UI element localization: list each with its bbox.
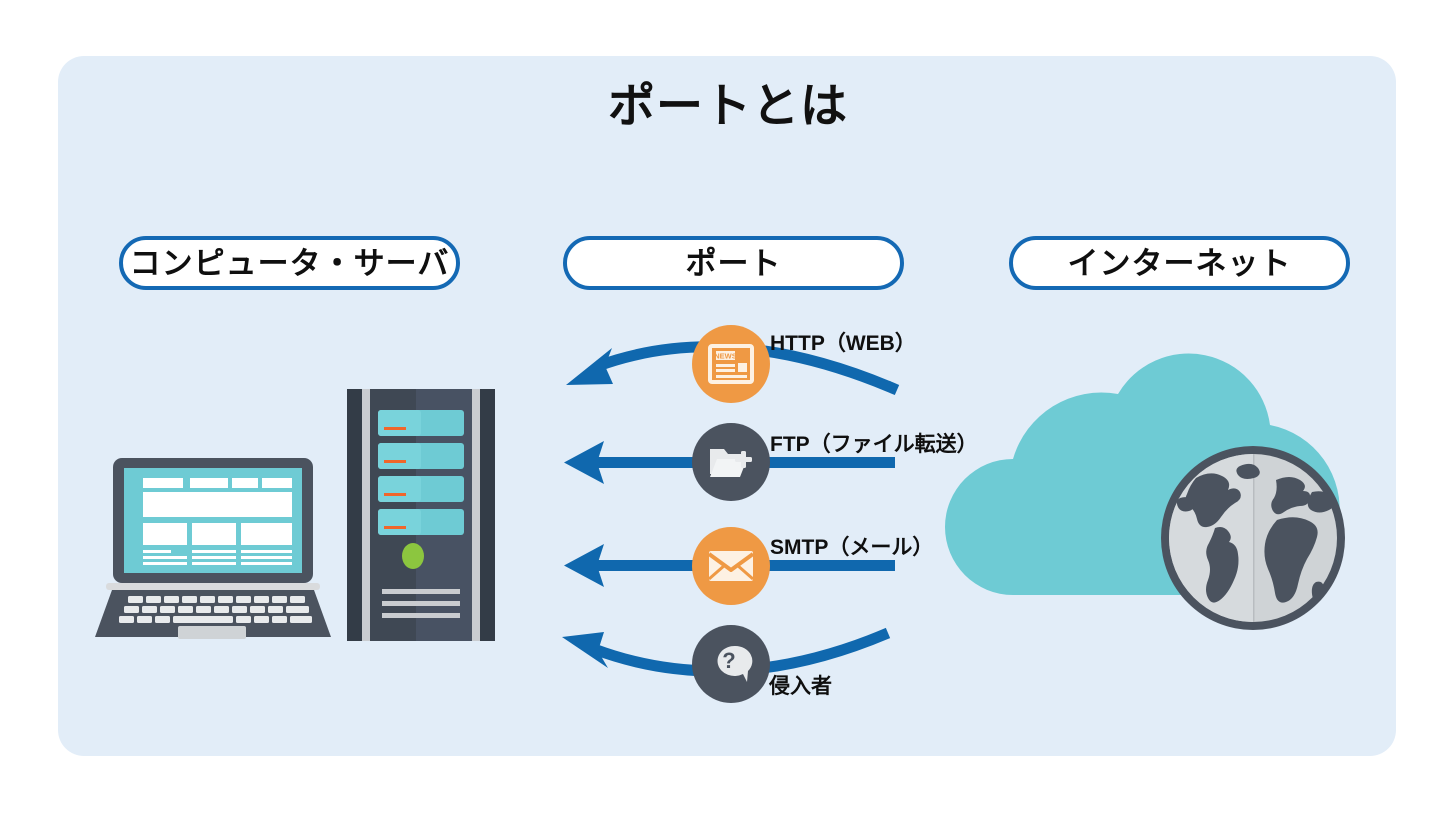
diagram-canvas: ポートとは コンピュータ・サーバ ポート インターネット (0, 0, 1456, 816)
service-label-ftp: FTP（ファイル転送） (770, 434, 978, 455)
newspaper-icon: NEWS (708, 344, 754, 384)
service-icon-ftp[interactable] (692, 423, 770, 501)
service-label-http: HTTP（WEB） (770, 333, 916, 354)
service-icon-intruder[interactable]: ? (692, 625, 770, 703)
service-icon-http[interactable]: NEWS (692, 325, 770, 403)
service-label-intruder: 侵入者 (769, 676, 832, 697)
service-icon-smtp[interactable] (692, 527, 770, 605)
folder-plus-icon (707, 442, 755, 482)
question-bubble-icon: ? (709, 643, 753, 685)
service-label-smtp: SMTP（メール） (770, 537, 933, 558)
svg-text:?: ? (722, 648, 735, 673)
envelope-icon (707, 548, 755, 584)
svg-text:NEWS: NEWS (714, 351, 737, 360)
